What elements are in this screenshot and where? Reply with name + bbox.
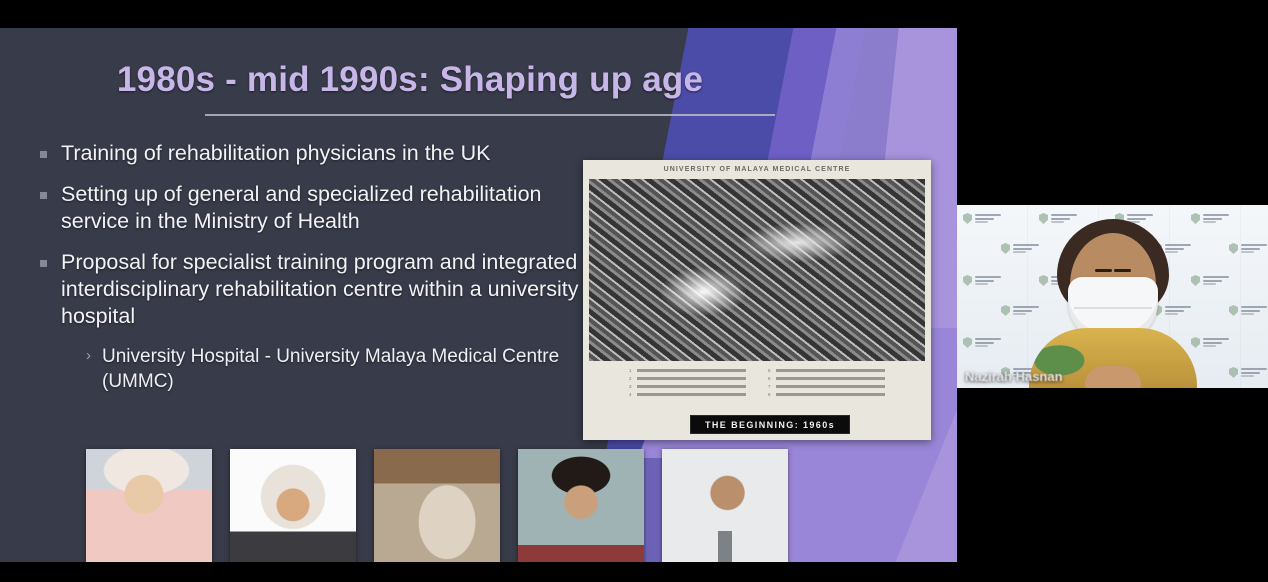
bullet-item: Setting up of general and specialized re… — [40, 181, 580, 235]
bullet-text: Proposal for specialist training program… — [61, 249, 580, 330]
legend-bar — [637, 377, 746, 380]
participant-person — [1028, 219, 1198, 388]
university-logo-icon — [963, 337, 1001, 348]
logo-text — [1241, 306, 1267, 315]
legend-bar — [637, 385, 746, 388]
screen-share-stage: 1980s - mid 1990s: Shaping up age Traini… — [0, 0, 1268, 582]
legend-bar — [637, 393, 746, 396]
legend-number: 6 — [768, 376, 771, 381]
legend-row: 5 — [768, 368, 885, 373]
shield-icon — [963, 275, 972, 286]
legend-number: 2 — [629, 376, 632, 381]
sub-bullet-text: University Hospital - University Malaya … — [102, 344, 580, 394]
portrait-photo-3 — [374, 449, 500, 562]
square-bullet-icon — [40, 260, 47, 267]
photo-header-text: UNIVERSITY OF MALAYA MEDICAL CENTRE — [583, 166, 931, 173]
logo-text — [975, 214, 1001, 223]
shield-icon — [963, 213, 972, 224]
university-logo-icon — [1229, 305, 1267, 316]
legend-row: 1 — [629, 368, 746, 373]
shield-icon — [1229, 243, 1238, 254]
logo-text — [1203, 276, 1229, 285]
legend-column: 5 6 7 8 — [768, 368, 885, 394]
photo-caption-bar: THE BEGINNING: 1960s — [690, 415, 850, 434]
legend-number: 1 — [629, 368, 632, 373]
legend-row: 3 — [629, 384, 746, 389]
bullet-item: Proposal for specialist training program… — [40, 249, 580, 330]
participant-name-label: Nazirah Hasnan — [957, 367, 1071, 388]
legend-bar — [776, 369, 885, 372]
portrait-photo-5 — [662, 449, 788, 562]
legend-number: 5 — [768, 368, 771, 373]
legend-row: 6 — [768, 376, 885, 381]
eyebrow-right — [1095, 269, 1112, 272]
legend-number: 4 — [629, 392, 632, 397]
bullet-text: Setting up of general and specialized re… — [61, 181, 580, 235]
hands — [1085, 366, 1141, 388]
participant-video-tile[interactable]: Nazirah Hasnan — [957, 205, 1268, 388]
legend-row: 4 — [629, 392, 746, 397]
legend-number: 3 — [629, 384, 632, 389]
portrait-photo-4 — [518, 449, 644, 562]
logo-text — [1203, 214, 1229, 223]
bullet-item: Training of rehabilitation physicians in… — [40, 140, 580, 167]
legend-row: 8 — [768, 392, 885, 397]
portrait-strip — [86, 449, 788, 562]
shield-icon — [1229, 367, 1238, 378]
presentation-slide[interactable]: 1980s - mid 1990s: Shaping up age Traini… — [0, 28, 957, 562]
legend-row: 2 — [629, 376, 746, 381]
portrait-photo-1 — [86, 449, 212, 562]
shield-icon — [1001, 305, 1010, 316]
shield-icon — [1229, 305, 1238, 316]
legend-bar — [776, 393, 885, 396]
logo-text — [1241, 368, 1267, 377]
eyebrow-left — [1114, 269, 1131, 272]
logo-text — [1241, 244, 1267, 253]
university-logo-icon — [963, 213, 1001, 224]
photo-caption-text: THE BEGINNING: 1960s — [705, 420, 835, 430]
legend-bar — [776, 385, 885, 388]
sub-bullet-item: › University Hospital - University Malay… — [86, 344, 580, 394]
university-logo-icon — [1229, 243, 1267, 254]
logo-text — [975, 338, 1001, 347]
legend-number: 7 — [768, 384, 771, 389]
slide-bullet-list: Training of rehabilitation physicians in… — [40, 140, 580, 394]
photo-legend: 1 2 3 4 5 6 7 8 — [589, 365, 925, 397]
legend-row: 7 — [768, 384, 885, 389]
square-bullet-icon — [40, 151, 47, 158]
title-divider — [205, 114, 775, 116]
legend-bar — [637, 369, 746, 372]
university-logo-icon — [963, 275, 1001, 286]
logo-text — [1203, 338, 1229, 347]
university-logo-icon — [1229, 367, 1267, 378]
aerial-photograph — [589, 179, 925, 361]
square-bullet-icon — [40, 192, 47, 199]
bullet-text: Training of rehabilitation physicians in… — [61, 140, 490, 167]
slide-title-wrap: 1980s - mid 1990s: Shaping up age — [0, 60, 820, 100]
chevron-right-icon: › — [86, 344, 91, 368]
legend-bar — [776, 377, 885, 380]
legend-column: 1 2 3 4 — [629, 368, 746, 394]
shield-icon — [1001, 243, 1010, 254]
shield-icon — [963, 337, 972, 348]
slide-title: 1980s - mid 1990s: Shaping up age — [0, 60, 820, 100]
portrait-photo-2 — [230, 449, 356, 562]
logo-text — [975, 276, 1001, 285]
aerial-photo-card: UNIVERSITY OF MALAYA MEDICAL CENTRE 1 2 … — [583, 160, 931, 440]
legend-number: 8 — [768, 392, 771, 397]
